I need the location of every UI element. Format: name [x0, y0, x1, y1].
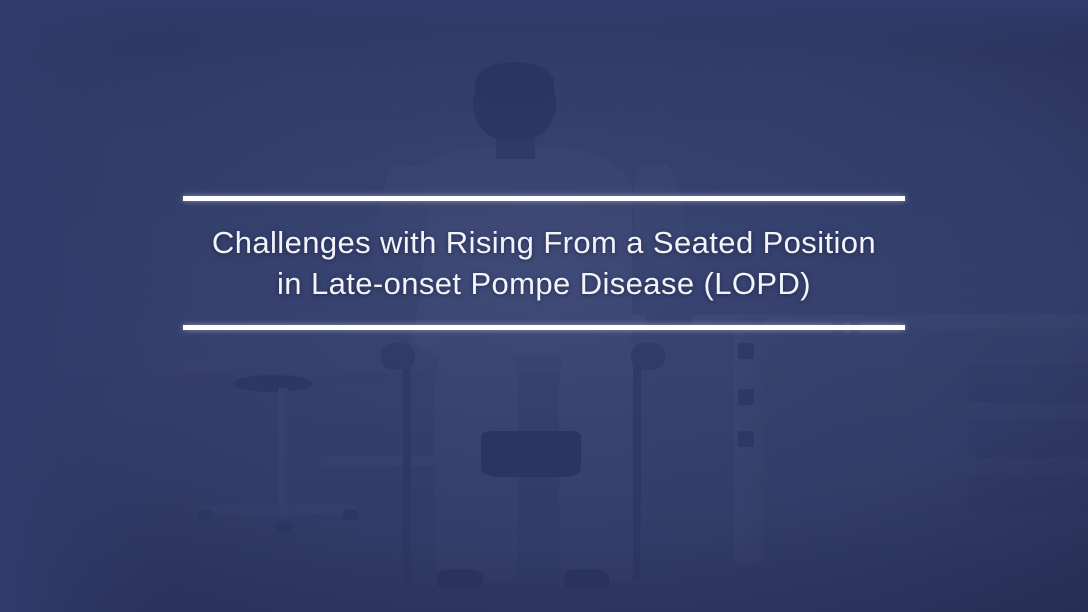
title-line-1: Challenges with Rising From a Seated Pos… — [212, 223, 876, 264]
top-edge-fade — [0, 0, 1088, 55]
title-card-slide: Challenges with Rising From a Seated Pos… — [0, 0, 1088, 612]
title-line-2: in Late-onset Pompe Disease (LOPD) — [212, 264, 876, 305]
title-rule-top — [183, 196, 905, 201]
title-block: Challenges with Rising From a Seated Pos… — [0, 196, 1088, 330]
title-rule-bottom — [183, 325, 905, 330]
page-title: Challenges with Rising From a Seated Pos… — [212, 223, 876, 305]
